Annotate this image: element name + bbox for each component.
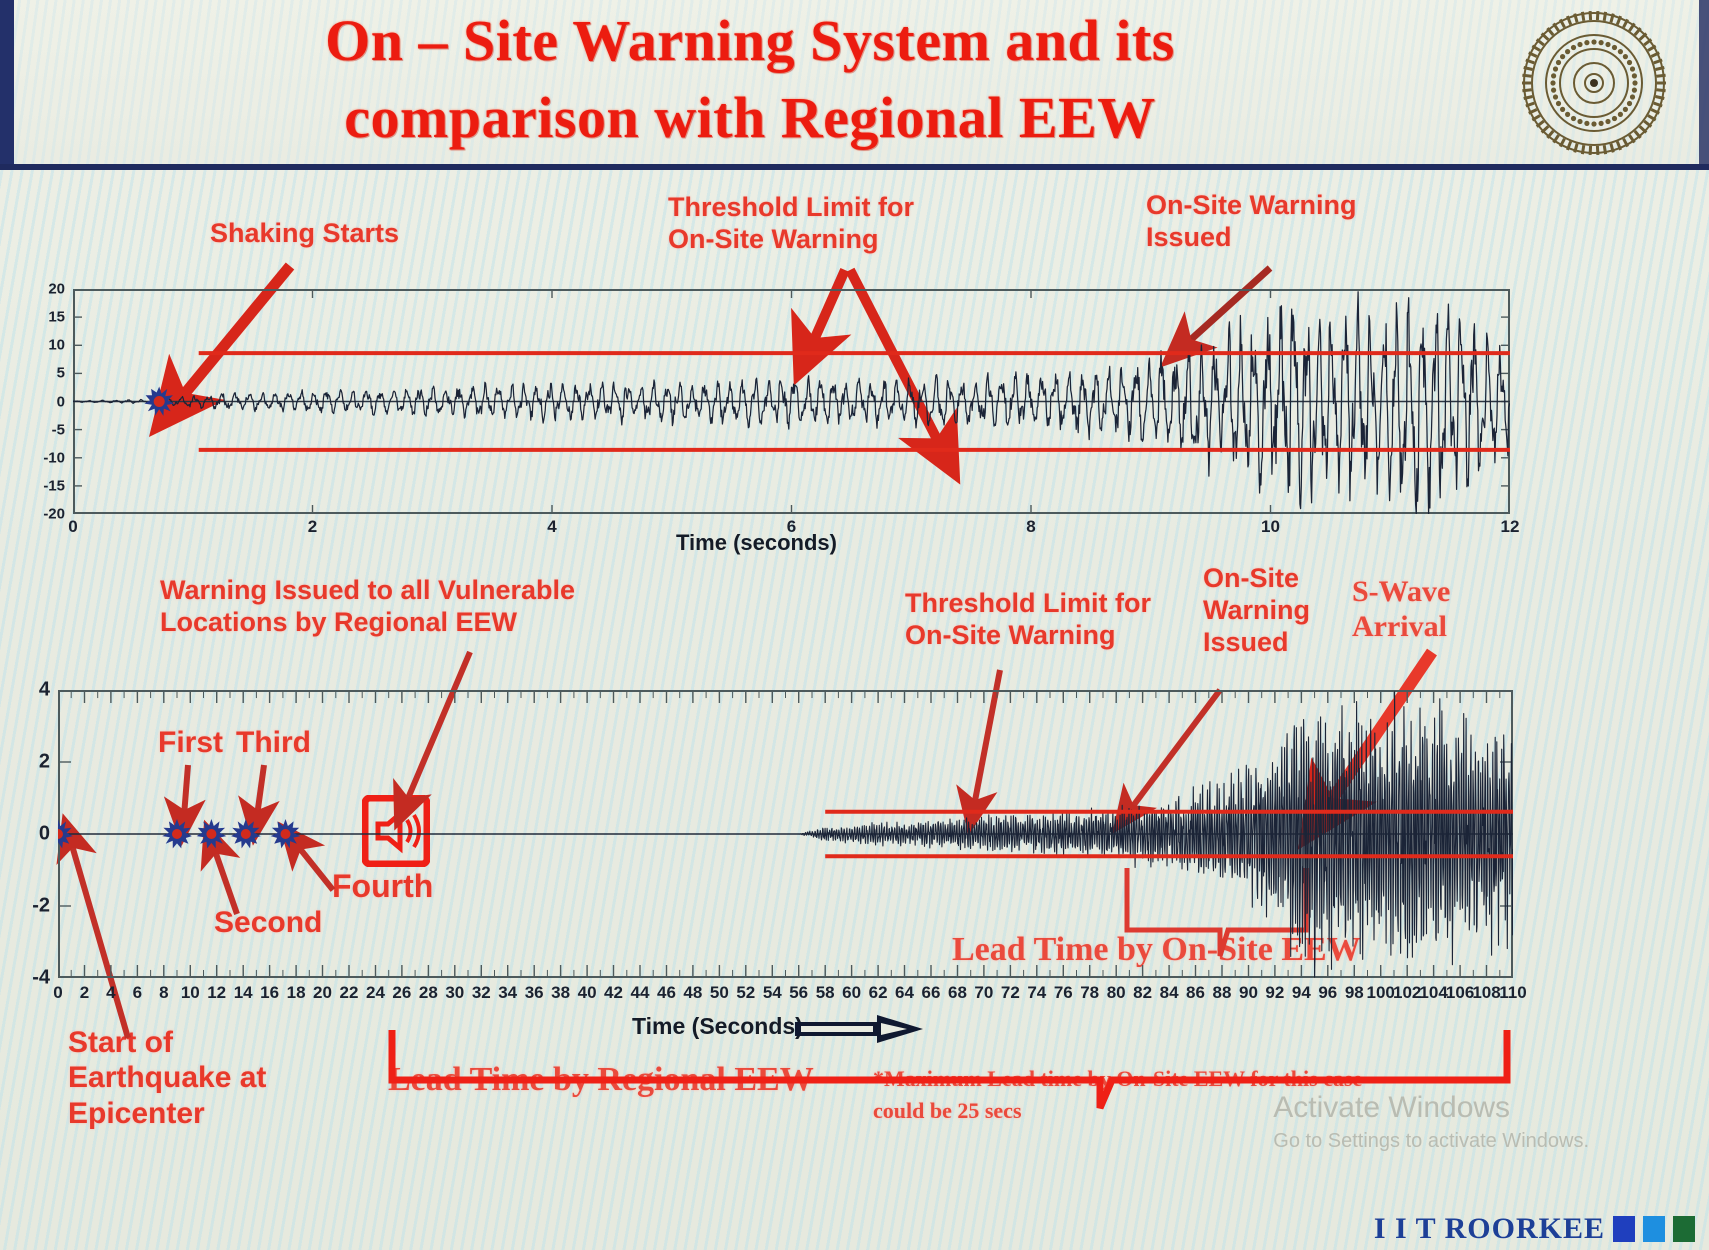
x-tick-label: 102 bbox=[1393, 983, 1421, 1003]
x-tick-label: 38 bbox=[551, 983, 570, 1003]
x-tick-label: 6 bbox=[133, 983, 142, 1003]
title-band: On – Site Warning System and its compari… bbox=[0, 0, 1709, 170]
x-tick-label: 60 bbox=[842, 983, 861, 1003]
x-tick-label: 42 bbox=[604, 983, 623, 1003]
x-tick-label: 58 bbox=[816, 983, 835, 1003]
x-tick-label: 36 bbox=[525, 983, 544, 1003]
watermark-line1: Activate Windows bbox=[1273, 1088, 1589, 1129]
page-title-line2: comparison with Regional EEW bbox=[120, 79, 1380, 156]
x-tick-label: 2 bbox=[80, 983, 89, 1003]
x-tick-label: 82 bbox=[1133, 983, 1152, 1003]
x-tick-label: 104 bbox=[1419, 983, 1447, 1003]
slide-root: On – Site Warning System and its compari… bbox=[0, 0, 1709, 1250]
y-tick-label: 15 bbox=[29, 309, 65, 326]
y-tick-label: 0 bbox=[29, 393, 65, 410]
watermark-line2: Go to Settings to activate Windows. bbox=[1273, 1128, 1589, 1155]
iit-roorkee-brand: I I T ROORKEE bbox=[1374, 1212, 1695, 1246]
x-tick-label: 28 bbox=[419, 983, 438, 1003]
brand-square-1 bbox=[1613, 1216, 1635, 1242]
windows-activation-watermark: Activate Windows Go to Settings to activ… bbox=[1273, 1088, 1589, 1156]
y-tick-label: 10 bbox=[29, 337, 65, 354]
x-tick-label: 8 bbox=[159, 983, 168, 1003]
brand-square-2 bbox=[1643, 1216, 1665, 1242]
y-tick-label: 0 bbox=[14, 823, 50, 846]
y-tick-label: -5 bbox=[29, 421, 65, 438]
x-tick-label: 74 bbox=[1027, 983, 1046, 1003]
x-tick-label: 30 bbox=[445, 983, 464, 1003]
y-tick-label: 4 bbox=[14, 679, 50, 702]
iit-roorkee-seal-icon bbox=[1519, 8, 1669, 158]
x-tick-label: 50 bbox=[710, 983, 729, 1003]
x-tick-label: 4 bbox=[547, 517, 556, 537]
x-tick-label: 12 bbox=[207, 983, 226, 1003]
x-tick-label: 24 bbox=[366, 983, 385, 1003]
x-tick-label: 12 bbox=[1501, 517, 1520, 537]
x-tick-label: 86 bbox=[1186, 983, 1205, 1003]
x-tick-label: 16 bbox=[260, 983, 279, 1003]
x-tick-label: 110 bbox=[1499, 983, 1526, 1003]
x-tick-label: 96 bbox=[1318, 983, 1337, 1003]
y-tick-label: -20 bbox=[29, 506, 65, 523]
x-tick-label: 18 bbox=[287, 983, 306, 1003]
y-tick-label: 20 bbox=[29, 281, 65, 298]
x-tick-label: 40 bbox=[578, 983, 597, 1003]
bottom-chart bbox=[58, 690, 1513, 978]
x-tick-label: 72 bbox=[1001, 983, 1020, 1003]
x-tick-label: 20 bbox=[313, 983, 332, 1003]
y-tick-label: -2 bbox=[14, 895, 50, 918]
x-tick-label: 0 bbox=[53, 983, 62, 1003]
x-tick-label: 108 bbox=[1472, 983, 1500, 1003]
y-tick-label: 2 bbox=[14, 751, 50, 774]
x-tick-label: 90 bbox=[1239, 983, 1258, 1003]
x-tick-label: 56 bbox=[789, 983, 808, 1003]
y-tick-label: 5 bbox=[29, 365, 65, 382]
x-tick-label: 22 bbox=[340, 983, 359, 1003]
x-tick-label: 98 bbox=[1345, 983, 1364, 1003]
bottom-chart-x-axis-title: Time (Seconds) bbox=[632, 1013, 803, 1040]
x-tick-label: 32 bbox=[472, 983, 491, 1003]
x-tick-label: 46 bbox=[657, 983, 676, 1003]
x-tick-label: 14 bbox=[234, 983, 253, 1003]
x-tick-label: 52 bbox=[736, 983, 755, 1003]
x-tick-label: 2 bbox=[308, 517, 317, 537]
x-tick-label: 64 bbox=[895, 983, 914, 1003]
brand-text: I I T ROORKEE bbox=[1374, 1212, 1605, 1246]
x-tick-label: 62 bbox=[869, 983, 888, 1003]
x-tick-label: 10 bbox=[181, 983, 200, 1003]
title-band-left-edge bbox=[0, 0, 14, 164]
x-tick-label: 70 bbox=[974, 983, 993, 1003]
time-direction-arrow-icon bbox=[795, 1014, 925, 1044]
x-tick-label: 92 bbox=[1265, 983, 1284, 1003]
x-tick-label: 8 bbox=[1026, 517, 1035, 537]
y-tick-label: -15 bbox=[29, 477, 65, 494]
x-tick-label: 54 bbox=[763, 983, 782, 1003]
x-tick-label: 68 bbox=[948, 983, 967, 1003]
x-tick-label: 34 bbox=[498, 983, 517, 1003]
page-title-line1: On – Site Warning System and its bbox=[120, 2, 1380, 79]
x-tick-label: 80 bbox=[1107, 983, 1126, 1003]
top-chart bbox=[73, 289, 1510, 514]
brand-square-3 bbox=[1673, 1216, 1695, 1242]
x-tick-label: 0 bbox=[68, 517, 77, 537]
x-tick-label: 78 bbox=[1080, 983, 1099, 1003]
x-tick-label: 84 bbox=[1160, 983, 1179, 1003]
y-tick-label: -10 bbox=[29, 449, 65, 466]
x-tick-label: 44 bbox=[631, 983, 650, 1003]
y-tick-label: -4 bbox=[14, 967, 50, 990]
x-tick-label: 88 bbox=[1213, 983, 1232, 1003]
x-tick-label: 26 bbox=[392, 983, 411, 1003]
top-chart-x-axis-title: Time (seconds) bbox=[676, 530, 837, 556]
title-band-right-edge bbox=[1699, 0, 1709, 164]
x-tick-label: 48 bbox=[683, 983, 702, 1003]
x-tick-label: 106 bbox=[1446, 983, 1474, 1003]
x-tick-label: 94 bbox=[1292, 983, 1311, 1003]
x-tick-label: 4 bbox=[106, 983, 115, 1003]
x-tick-label: 100 bbox=[1367, 983, 1395, 1003]
page-title: On – Site Warning System and its compari… bbox=[120, 2, 1380, 156]
x-tick-label: 10 bbox=[1261, 517, 1280, 537]
x-tick-label: 76 bbox=[1054, 983, 1073, 1003]
x-tick-label: 66 bbox=[922, 983, 941, 1003]
